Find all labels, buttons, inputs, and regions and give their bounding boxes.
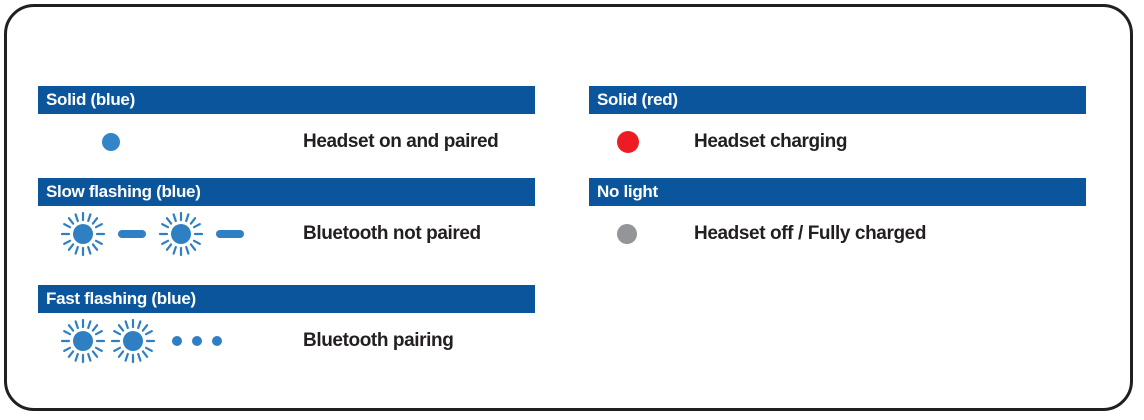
spacer — [106, 234, 118, 235]
flash-dot-icon — [212, 336, 222, 346]
led-off-gray-icon — [617, 224, 637, 244]
status-header-label: No light — [597, 182, 658, 202]
status-header-no-light: No light — [589, 178, 1086, 206]
status-body-solid-blue: Headset on and paired — [38, 114, 535, 170]
status-body-fast-flashing-blue: Bluetooth pairing — [38, 313, 535, 369]
status-header-label: Fast flashing (blue) — [46, 289, 196, 309]
status-description: Headset on and paired — [303, 131, 498, 153]
status-header-solid-blue: Solid (blue) — [38, 86, 535, 114]
status-body-no-light: Headset off / Fully charged — [589, 206, 1086, 262]
status-header-solid-red: Solid (red) — [589, 86, 1086, 114]
flash-dot-icon — [172, 336, 182, 346]
status-body-solid-red: Headset charging — [589, 114, 1086, 170]
sun-flash-icon — [60, 318, 106, 364]
dash-separator-icon — [216, 230, 244, 238]
status-description: Bluetooth not paired — [303, 223, 481, 245]
flash-dot-icon — [192, 336, 202, 346]
status-header-fast-flashing-blue: Fast flashing (blue) — [38, 285, 535, 313]
status-description: Headset charging — [694, 131, 847, 153]
sun-flash-icon — [60, 211, 106, 257]
dash-separator-icon — [118, 230, 146, 238]
indicator-solid-blue — [38, 114, 253, 170]
status-header-slow-flashing-blue: Slow flashing (blue) — [38, 178, 535, 206]
spacer — [202, 341, 212, 342]
sun-flash-icon — [110, 318, 156, 364]
status-header-label: Slow flashing (blue) — [46, 182, 201, 202]
sun-flash-icon — [158, 211, 204, 257]
spacer — [204, 234, 216, 235]
legend-columns: Solid (blue) Headset on and paired Slow … — [7, 7, 1130, 408]
status-body-slow-flashing-blue: Bluetooth not paired — [38, 206, 535, 262]
fast-flash-sequence — [60, 313, 222, 369]
status-header-label: Solid (blue) — [46, 90, 135, 110]
indicator-fast-flashing-blue — [38, 313, 253, 369]
indicator-slow-flashing-blue — [38, 206, 253, 262]
status-description: Headset off / Fully charged — [694, 223, 926, 245]
status-description: Bluetooth pairing — [303, 330, 453, 352]
slow-flash-sequence — [60, 206, 244, 262]
status-header-label: Solid (red) — [597, 90, 678, 110]
led-blue-solid-icon — [102, 133, 120, 151]
led-status-legend-card: Solid (blue) Headset on and paired Slow … — [4, 4, 1133, 411]
spacer — [182, 341, 192, 342]
spacer — [146, 234, 158, 235]
spacer — [156, 341, 172, 342]
led-red-solid-icon — [617, 131, 639, 153]
